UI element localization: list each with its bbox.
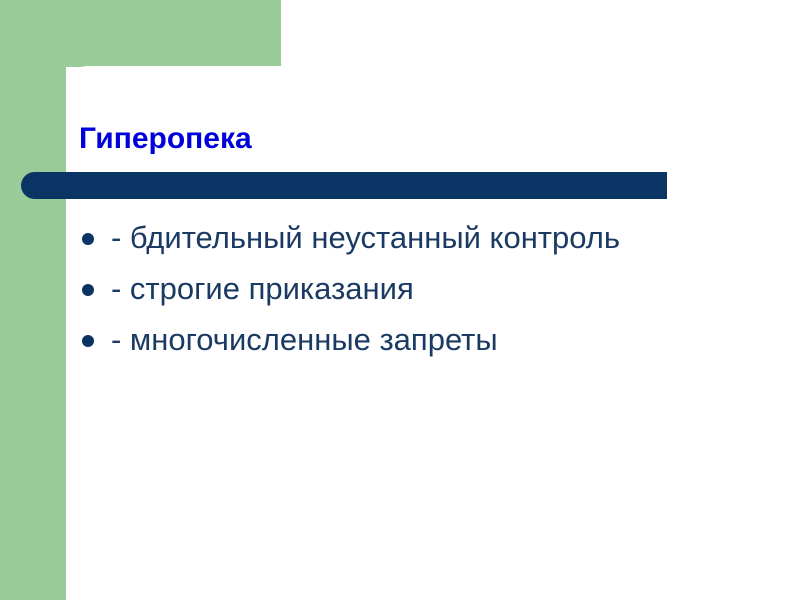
slide: Гиперопека - бдительный неустанный контр… — [0, 0, 800, 600]
title-divider-bar — [21, 172, 667, 199]
bullet-list: - бдительный неустанный контроль - строг… — [80, 216, 760, 369]
list-item-label: - многочисленные запреты — [111, 318, 760, 361]
list-item-label: - бдительный неустанный контроль — [111, 216, 711, 259]
list-item: - бдительный неустанный контроль — [80, 216, 760, 259]
green-side-strip — [0, 0, 66, 600]
list-item-label: - строгие приказания — [111, 267, 760, 310]
page-title: Гиперопека — [79, 120, 252, 158]
bullet-dot-icon — [82, 284, 94, 296]
list-item: - строгие приказания — [80, 267, 760, 310]
green-top-block — [0, 0, 281, 67]
list-item: - многочисленные запреты — [80, 318, 760, 361]
bullet-dot-icon — [82, 233, 94, 245]
bullet-dot-icon — [82, 335, 94, 347]
